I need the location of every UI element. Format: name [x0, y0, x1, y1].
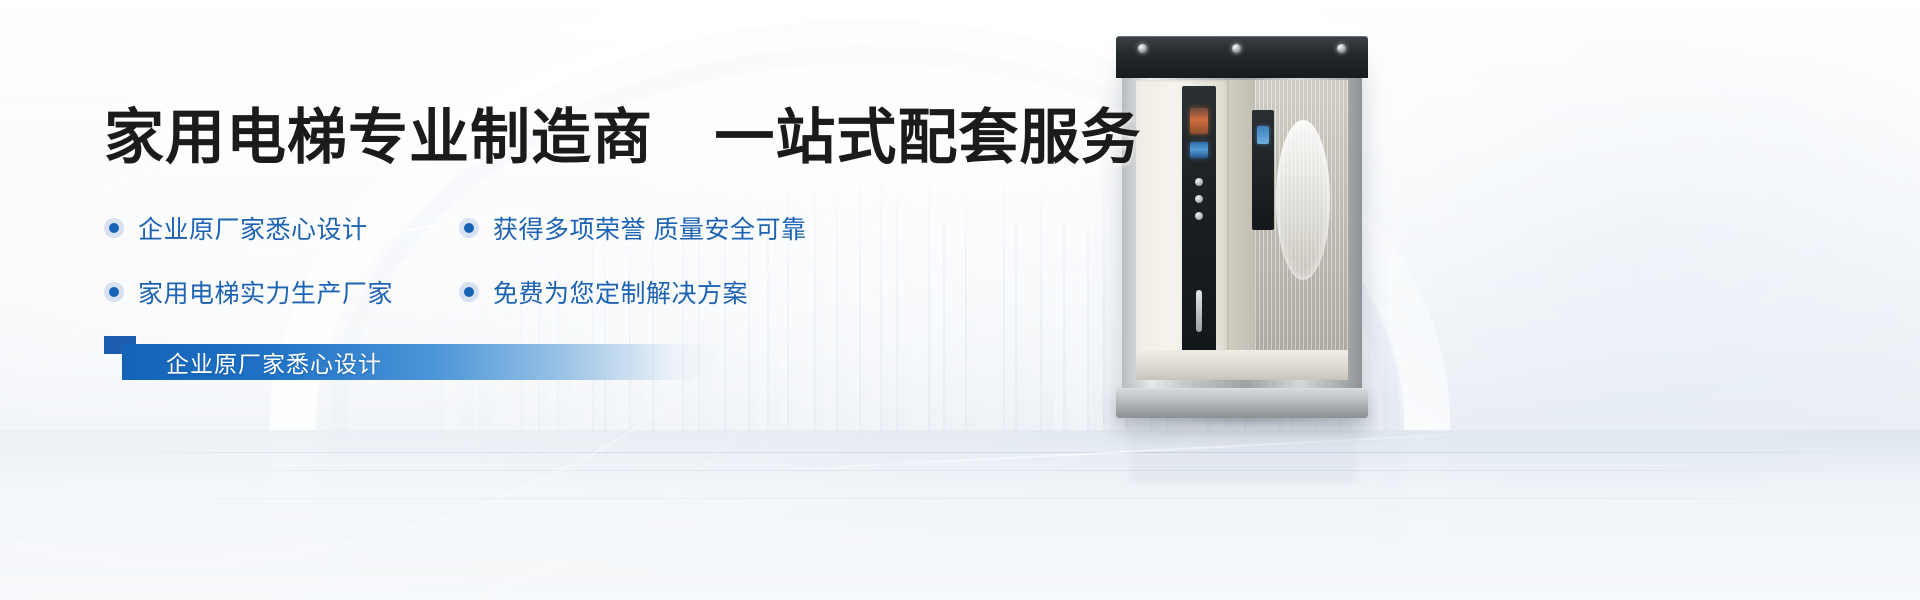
elevator-secondary-panel — [1252, 110, 1274, 230]
banner-headline: 家用电梯专业制造商 一站式配套服务 — [104, 108, 1141, 168]
elevator-button — [1195, 212, 1203, 220]
ribbon-label: 企业原厂家悉心设计 — [122, 345, 382, 379]
feature-bullet-row: 企业原厂家悉心设计 获得多项荣誉 质量安全可靠 — [104, 210, 984, 246]
elevator-product-image — [1122, 46, 1362, 406]
feature-item-1: 企业原厂家悉心设计 — [104, 210, 459, 246]
promo-banner: 家用电梯专业制造商 一站式配套服务 企业原厂家悉心设计 获得多项荣誉 质量安全可… — [0, 0, 1920, 600]
bullet-dot-icon — [459, 282, 479, 302]
elevator-button — [1195, 178, 1203, 186]
elevator-button-group — [1195, 178, 1203, 229]
elevator-display-screen — [1190, 108, 1208, 134]
elevator-handrail-strip — [1196, 290, 1202, 332]
ceiling-light-icon — [1232, 44, 1241, 53]
feature-item-label: 企业原厂家悉心设计 — [138, 210, 368, 246]
elevator-canopy — [1116, 36, 1368, 78]
feature-item-4: 免费为您定制解决方案 — [459, 274, 959, 310]
bullet-dot-icon — [104, 218, 124, 238]
feature-item-label: 家用电梯实力生产厂家 — [138, 274, 393, 310]
feature-bullet-list: 企业原厂家悉心设计 获得多项荣誉 质量安全可靠 家用电梯实力生产厂家 免费为您定… — [104, 210, 984, 338]
ceiling-light-icon — [1138, 44, 1147, 53]
headline-part-1: 家用电梯专业制造商 — [104, 104, 653, 171]
highlight-ribbon: 企业原厂家悉心设计 — [104, 336, 744, 378]
feature-item-3: 家用电梯实力生产厂家 — [104, 274, 459, 310]
elevator-indicator-screen — [1190, 142, 1208, 158]
elevator-base-plinth — [1116, 388, 1368, 418]
ribbon-bar: 企业原厂家悉心设计 — [122, 344, 722, 380]
bullet-dot-icon — [459, 218, 479, 238]
elevator-reflection — [1130, 412, 1356, 482]
elevator-floor — [1136, 350, 1348, 380]
bullet-dot-icon — [104, 282, 124, 302]
elevator-secondary-screen — [1257, 126, 1269, 144]
banner-content: 家用电梯专业制造商 一站式配套服务 企业原厂家悉心设计 获得多项荣誉 质量安全可… — [0, 0, 1100, 600]
headline-part-2: 一站式配套服务 — [714, 104, 1141, 171]
feature-item-label: 获得多项荣誉 质量安全可靠 — [493, 210, 806, 246]
elevator-control-column — [1182, 86, 1216, 358]
feature-item-2: 获得多项荣誉 质量安全可靠 — [459, 210, 959, 246]
elevator-mirror-oval — [1276, 120, 1330, 280]
elevator-button — [1195, 195, 1203, 203]
elevator-cabin — [1136, 80, 1348, 364]
feature-bullet-row: 家用电梯实力生产厂家 免费为您定制解决方案 — [104, 274, 984, 310]
ceiling-light-icon — [1337, 44, 1346, 53]
feature-item-label: 免费为您定制解决方案 — [493, 274, 748, 310]
